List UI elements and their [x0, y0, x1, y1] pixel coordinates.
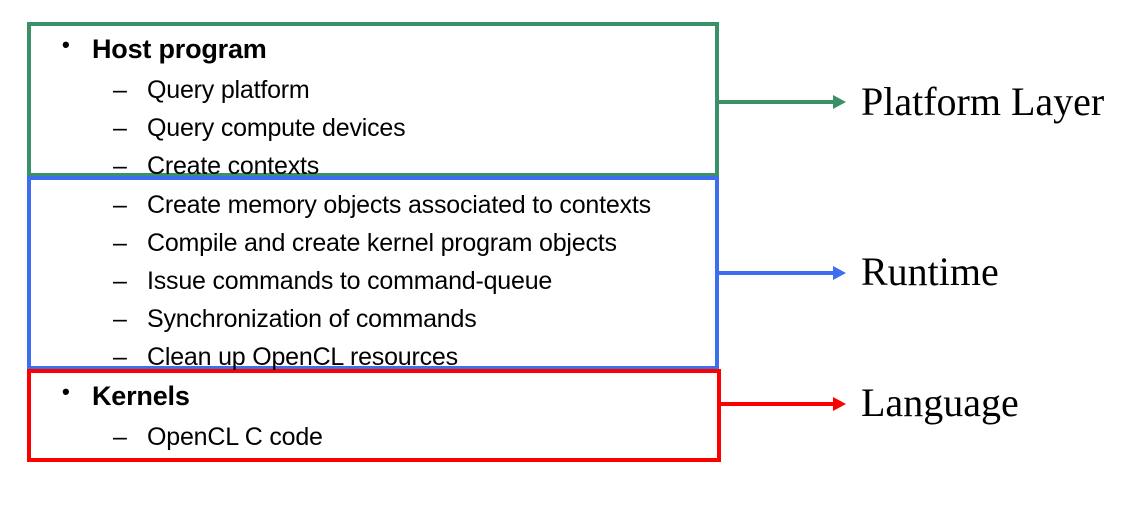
arrow-shaft — [718, 271, 834, 275]
arrow-shaft — [718, 100, 834, 104]
runtime-arrow-icon — [718, 271, 846, 275]
arrow-head — [833, 266, 846, 280]
layer-label-platform: Platform Layer — [861, 82, 1104, 122]
layer-label-runtime: Runtime — [861, 252, 999, 292]
language-layer-box — [27, 369, 721, 462]
diagram-canvas: • Host program – Query platform – Query … — [0, 0, 1136, 508]
arrow-shaft — [718, 402, 834, 406]
platform-layer-arrow-icon — [718, 100, 846, 104]
arrow-head — [833, 95, 846, 109]
runtime-layer-box — [27, 176, 719, 370]
arrow-head — [833, 397, 846, 411]
language-arrow-icon — [718, 402, 846, 406]
layer-label-language: Language — [861, 383, 1019, 423]
platform-layer-box — [27, 22, 719, 177]
